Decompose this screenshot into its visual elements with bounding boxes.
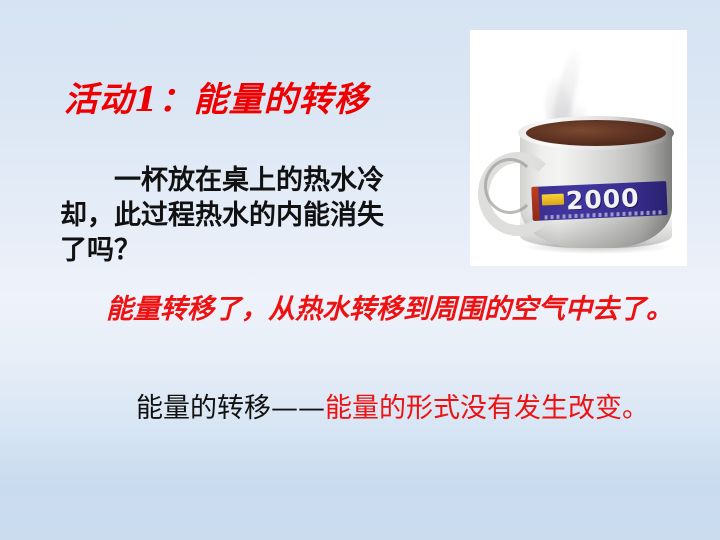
- mug-handle-inner-edge: [484, 158, 536, 214]
- mug-label: 2000: [531, 181, 667, 221]
- coffee-surface: [526, 120, 666, 146]
- conclusion-red-text: 能量的形式没有发生改变。: [325, 393, 649, 424]
- label-logo-icon: [542, 194, 564, 206]
- slide-canvas: 活动1：能量的转移 一杯放在桌上的热水冷却，此过程热水的内能消失了吗？ 能量转移…: [0, 0, 720, 540]
- label-red-bar: [531, 187, 539, 221]
- question-paragraph: 一杯放在桌上的热水冷却，此过程热水的内能消失了吗？: [60, 163, 390, 268]
- label-year-text: 2000: [565, 183, 640, 215]
- answer-paragraph: 能量转移了，从热水转移到周围的空气中去了。: [52, 292, 692, 328]
- coffee-mug-photo: 2000: [470, 30, 687, 266]
- conclusion-black-text: 能量的转移——: [136, 393, 325, 424]
- page-title: 活动1：能量的转移: [64, 80, 369, 120]
- conclusion-line: 能量的转移——能量的形式没有发生改变。: [136, 392, 649, 426]
